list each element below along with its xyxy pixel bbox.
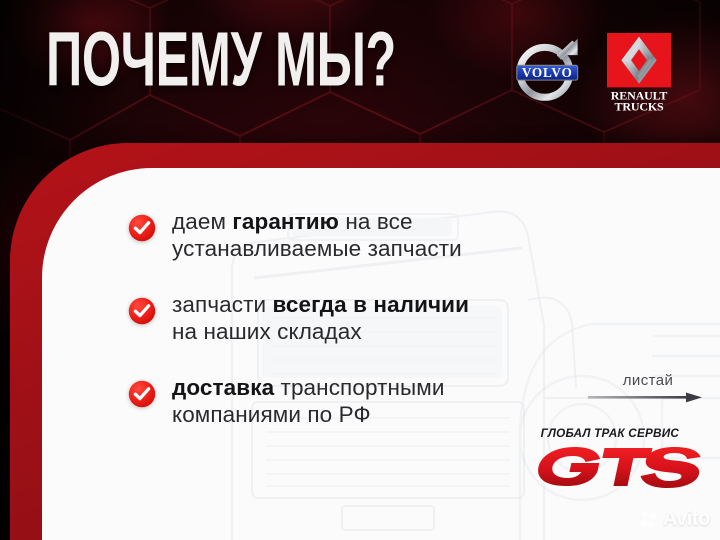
svg-text:TRUCKS: TRUCKS — [614, 100, 664, 113]
avito-label: Avito — [663, 508, 710, 531]
benefits-list: даем гарантию на всеустанавливаемые запч… — [128, 208, 558, 457]
poster-header: ПОЧЕМУ МЫ? — [0, 0, 720, 168]
check-circle-icon — [128, 214, 156, 242]
check-circle-icon — [128, 380, 156, 408]
swipe-label: листай — [588, 372, 708, 389]
list-item: даем гарантию на всеустанавливаемые запч… — [128, 208, 558, 263]
list-item: запчасти всегда в наличиина наших склада… — [128, 291, 558, 346]
benefit-text: запчасти всегда в наличиина наших склада… — [172, 291, 469, 346]
avito-dots-icon — [639, 510, 659, 530]
list-item: доставка транспортнымикомпаниями по РФ — [128, 374, 558, 429]
promo-poster: ПОЧЕМУ МЫ? — [0, 0, 720, 540]
benefit-text: доставка транспортнымикомпаниями по РФ — [172, 374, 445, 429]
check-circle-icon — [128, 297, 156, 325]
renault-trucks-logo: RENAULT TRUCKS — [603, 33, 675, 113]
gts-company-logo: ГЛОБАЛ ТРАК СЕРВИС — [536, 428, 712, 490]
swipe-hint: листай — [588, 372, 708, 405]
volvo-logo: VOLVO — [509, 31, 587, 109]
page-title: ПОЧЕМУ МЫ? — [46, 22, 396, 99]
arrow-right-icon — [588, 391, 708, 405]
svg-text:VOLVO: VOLVO — [522, 65, 573, 80]
gts-wordmark — [536, 441, 712, 491]
gts-tagline: ГЛОБАЛ ТРАК СЕРВИС — [541, 428, 679, 440]
benefit-text: даем гарантию на всеустанавливаемые запч… — [172, 208, 462, 263]
avito-watermark: Avito — [639, 508, 710, 531]
